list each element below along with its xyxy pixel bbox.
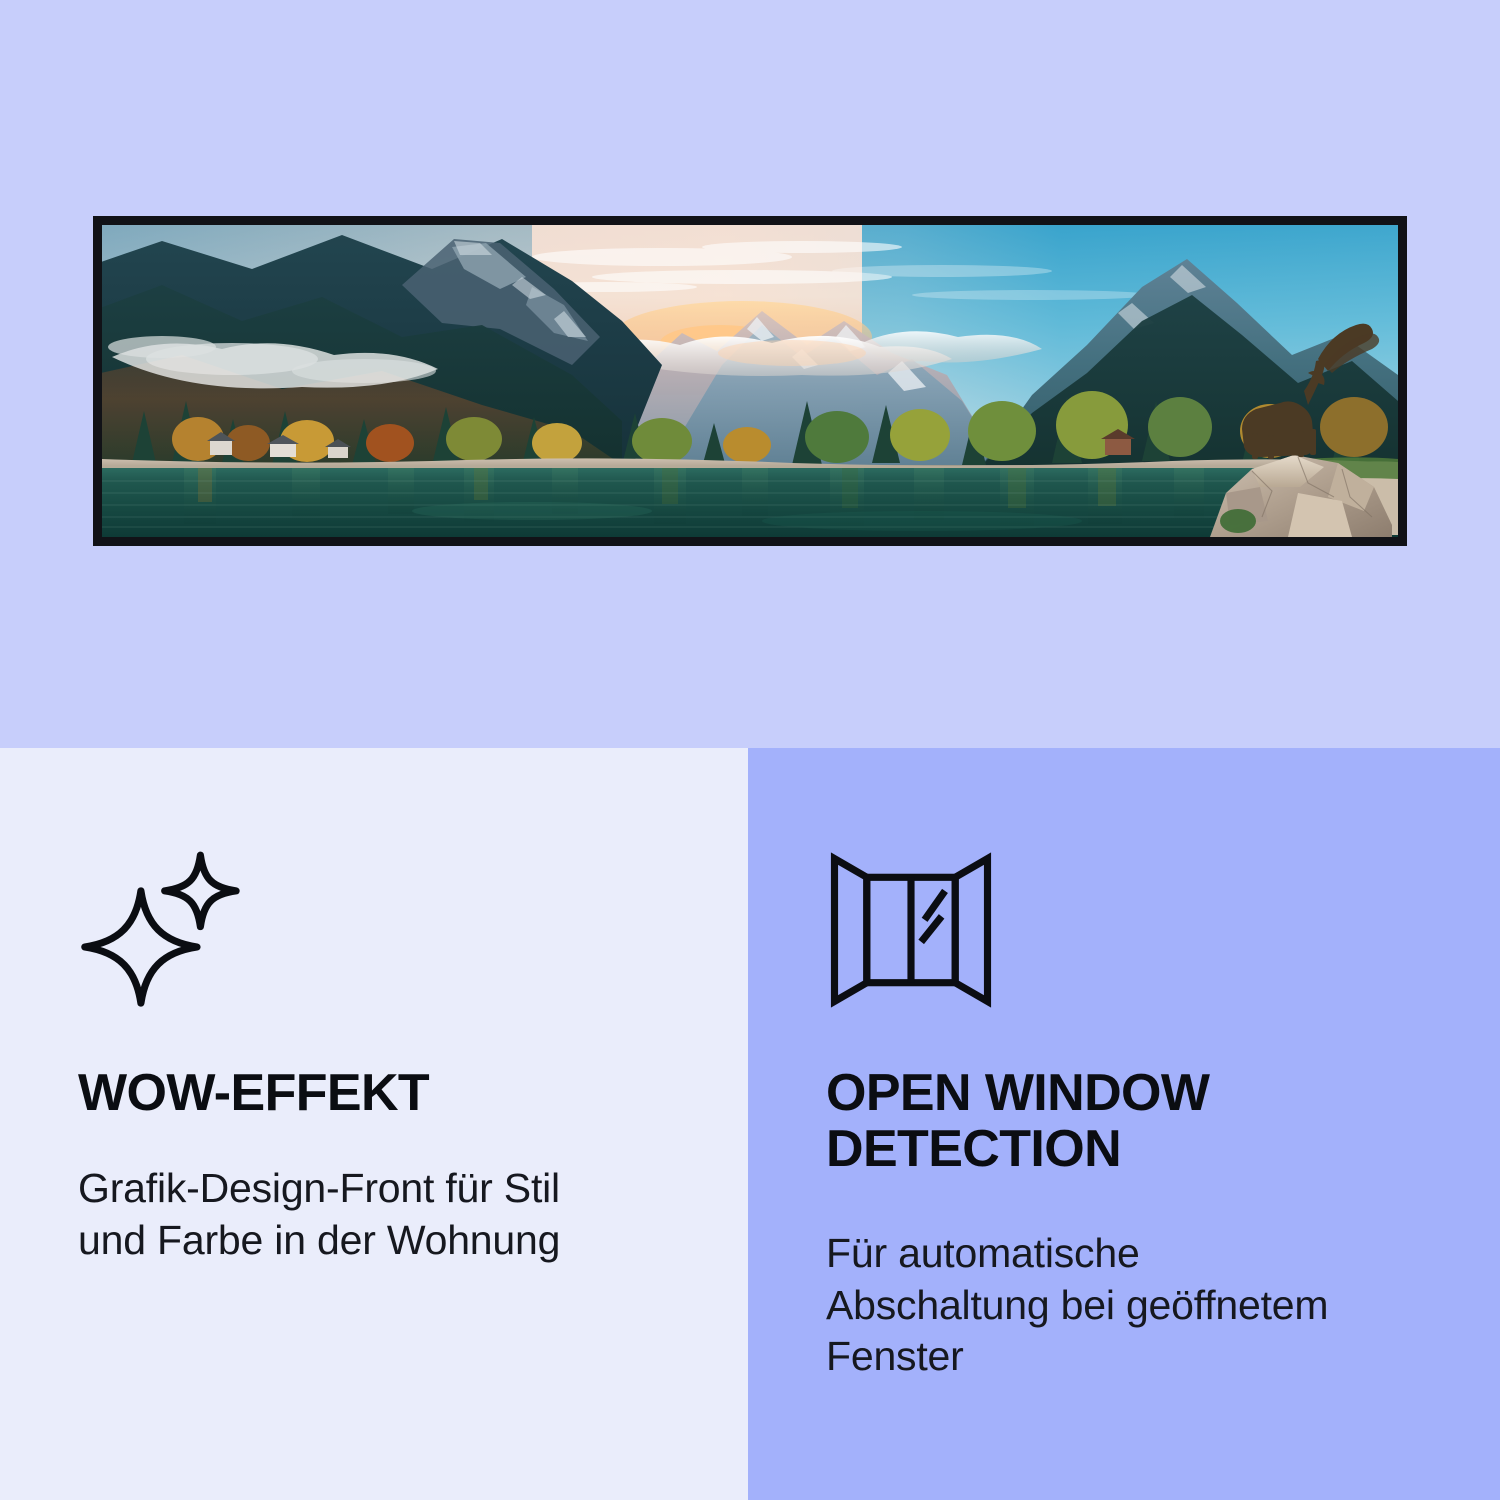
- open-window-icon-glyph: [826, 845, 996, 1015]
- feature-body-window: Für automatische Abschaltung bei geöffne…: [826, 1228, 1346, 1383]
- feature-body-wow: Grafik-Design-Front für Stil und Farbe i…: [78, 1163, 598, 1266]
- picture-frame: [93, 216, 1407, 546]
- page-root: WOW-EFFEKT Grafik-Design-Front für Stil …: [0, 0, 1500, 1500]
- feature-title-window: OPEN WINDOW DETECTION: [826, 1065, 1386, 1177]
- sparkle-icon: [78, 845, 248, 1015]
- open-window-icon: [826, 845, 996, 1015]
- hero-section: [0, 0, 1500, 748]
- panorama-artwork: [102, 225, 1398, 537]
- feature-title-wow: WOW-EFFEKT: [78, 1065, 678, 1121]
- sparkle-icon-glyph: [78, 845, 248, 1015]
- panorama-photo: [102, 225, 1398, 537]
